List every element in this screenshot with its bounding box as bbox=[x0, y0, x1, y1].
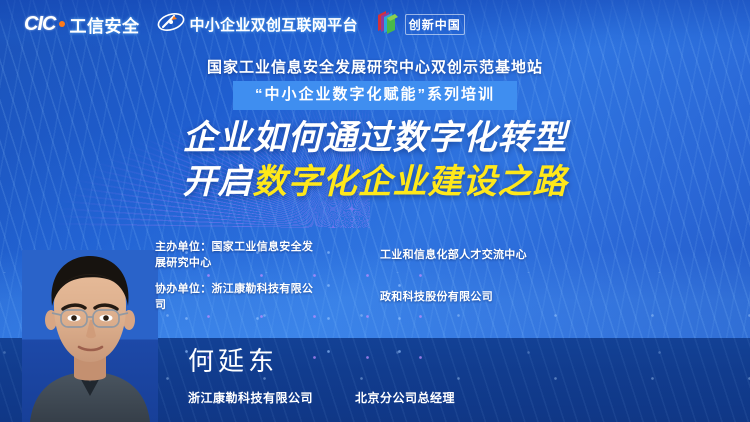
cic-orange-dot-icon bbox=[59, 21, 65, 27]
organizer-role-label: 协办单位： bbox=[155, 283, 212, 295]
logo-chuangxin-zhongguo: 创新中国 bbox=[376, 9, 465, 40]
logo-cic-label: 工信安全 bbox=[69, 12, 139, 37]
speaker-block: 何延东 浙江康勒科技有限公司 北京分公司总经理 bbox=[188, 347, 455, 406]
organizers-block: 主办单位：国家工业信息安全发展研究中心 工业和信息化部人才交流中心 协办单位：浙… bbox=[0, 238, 750, 322]
cic-wordmark-icon: CIC bbox=[24, 13, 55, 36]
logo-sme-label: 中小企业双创互联网平台 bbox=[189, 14, 357, 35]
page-title-line-2: 开启数字化企业建设之路 bbox=[0, 160, 750, 204]
host-center-line: 国家工业信息安全发展研究中心双创示范基地站 bbox=[0, 56, 750, 77]
organizer-right-value: 政和科技股份有限公司 bbox=[320, 288, 750, 304]
organizer-left: 协办单位：浙江康勒科技有限公司 bbox=[0, 280, 320, 312]
satellite-orbit-icon bbox=[157, 10, 185, 39]
speaker-org: 浙江康勒科技有限公司 bbox=[188, 389, 313, 406]
organizer-role-label: 主办单位： bbox=[155, 241, 212, 253]
webinar-title-slide: CIC 工信安全 中小企业双创互联网平台 bbox=[0, 0, 750, 422]
page-title-line-1: 企业如何通过数字化转型 bbox=[0, 116, 750, 160]
page-title-line-2-accent: 数字化企业建设之路 bbox=[253, 163, 568, 201]
organizer-left: 主办单位：国家工业信息安全发展研究中心 bbox=[0, 238, 320, 270]
organizer-row: 协办单位：浙江康勒科技有限公司 政和科技股份有限公司 bbox=[0, 280, 750, 312]
organizer-row: 主办单位：国家工业信息安全发展研究中心 工业和信息化部人才交流中心 bbox=[0, 238, 750, 270]
speaker-name: 何延东 bbox=[188, 347, 455, 377]
cube-books-icon bbox=[376, 9, 400, 40]
speaker-title: 北京分公司总经理 bbox=[355, 389, 455, 406]
speaker-meta: 浙江康勒科技有限公司 北京分公司总经理 bbox=[188, 389, 455, 406]
page-title: 企业如何通过数字化转型 开启数字化企业建设之路 bbox=[0, 116, 750, 204]
series-badge: “中小企业数字化赋能”系列培训 bbox=[233, 81, 517, 110]
organizer-right-value: 工业和信息化部人才交流中心 bbox=[320, 246, 750, 262]
logo-chuangxin-label: 创新中国 bbox=[405, 14, 465, 35]
series-badge-wrap: “中小企业数字化赋能”系列培训 bbox=[0, 81, 750, 110]
logo-bar: CIC 工信安全 中小企业双创互联网平台 bbox=[0, 0, 750, 48]
cic-mark-text: CIC bbox=[24, 13, 55, 36]
page-title-line-2-plain: 开启 bbox=[183, 163, 253, 201]
logo-cic-gongxin-anquan: CIC 工信安全 bbox=[24, 12, 139, 36]
logo-sme-platform: 中小企业双创互联网平台 bbox=[157, 10, 357, 39]
